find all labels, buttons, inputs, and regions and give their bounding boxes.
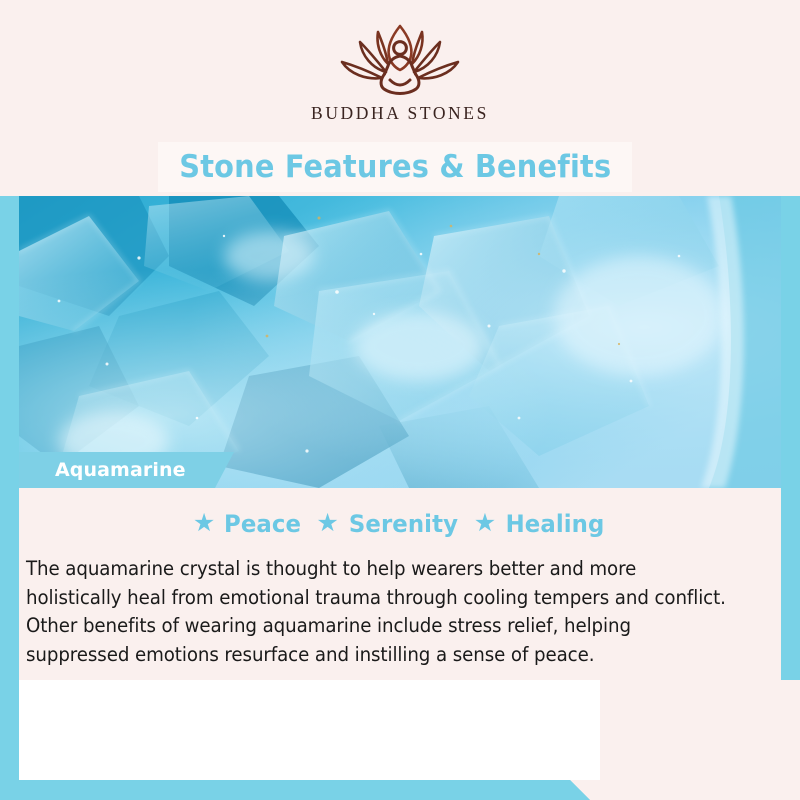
- star-icon: ★: [316, 511, 338, 536]
- description-paragraph: The aquamarine crystal is thought to hel…: [26, 555, 733, 669]
- keyword-label: Serenity: [349, 510, 458, 538]
- keyword-label: Healing: [506, 510, 605, 538]
- header: BUDDHA STONES Stone Features & Benefits: [0, 0, 800, 196]
- brand-logo: BUDDHA STONES: [0, 18, 800, 124]
- keyword-item-healing: ★ Healing: [474, 510, 607, 538]
- keyword-label: Peace: [224, 510, 301, 538]
- hero-image: [19, 196, 781, 488]
- star-icon: ★: [193, 511, 215, 536]
- keyword-item-peace: ★ Peace: [193, 510, 304, 538]
- frame-bottom-band-top: [0, 780, 800, 800]
- brand-name: BUDDHA STONES: [311, 103, 489, 124]
- keyword-item-serenity: ★ Serenity: [316, 510, 460, 538]
- bottom-right-cream-block: [600, 680, 800, 780]
- aquamarine-crystal-photo: [19, 196, 781, 488]
- stone-name-label: Aquamarine: [55, 459, 186, 481]
- page-title: Stone Features & Benefits: [179, 149, 611, 185]
- frame-bottom-right-mask: [781, 740, 800, 800]
- keyword-list: ★ Peace ★ Serenity ★ Healing: [19, 510, 781, 538]
- lotus-meditation-icon: [334, 18, 466, 100]
- stone-name-tag: Aquamarine: [19, 452, 234, 488]
- infographic-card: BUDDHA STONES Stone Features & Benefits: [0, 0, 800, 800]
- title-banner: Stone Features & Benefits: [158, 142, 632, 192]
- star-icon: ★: [474, 511, 496, 536]
